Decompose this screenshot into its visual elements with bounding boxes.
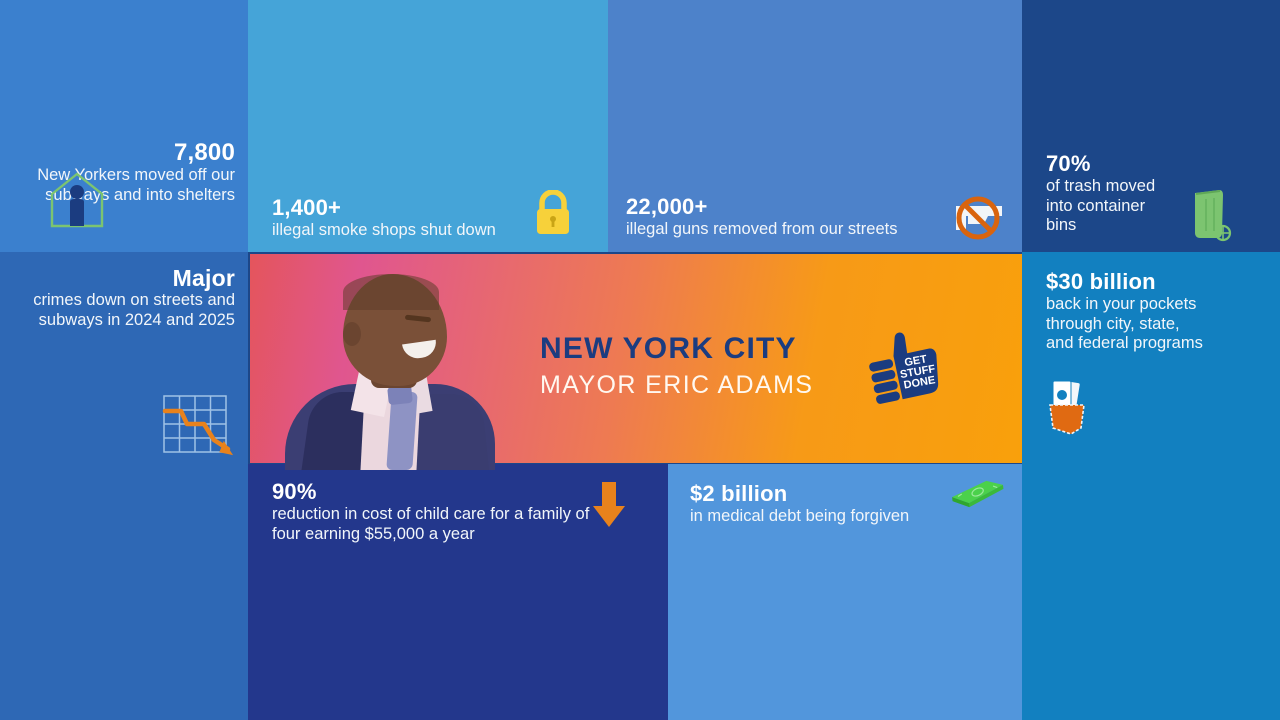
stat-trash-number: 70% xyxy=(1046,152,1176,175)
stat-child-care: 90% reduction in cost of child care for … xyxy=(272,480,602,544)
stat-crime-number: Major xyxy=(0,266,235,290)
stat-shelters: 7,800 New Yorkers moved off our subways … xyxy=(0,140,235,205)
stat-smoke-shops-number: 1,400+ xyxy=(272,196,572,219)
stat-guns: 22,000+ illegal guns removed from our st… xyxy=(626,195,966,240)
no-guns-icon xyxy=(948,192,1010,240)
stat-shelters-desc: New Yorkers moved off our subways and in… xyxy=(0,166,235,205)
stat-programs: $30 billion back in your pockets through… xyxy=(1046,270,1206,354)
stat-child-care-number: 90% xyxy=(272,480,602,503)
trash-bin-icon xyxy=(1186,185,1232,243)
person-in-house-icon xyxy=(46,168,108,230)
hero-title: NEW YORK CITY xyxy=(540,332,797,366)
panel-shelters-bg xyxy=(0,0,248,252)
padlock-icon xyxy=(532,190,574,236)
money-in-pocket-icon xyxy=(1044,378,1094,436)
bottom-fill-left xyxy=(248,546,668,720)
mayor-portrait xyxy=(285,266,495,467)
stat-medical-debt-desc: in medical debt being forgiven xyxy=(690,507,970,526)
stat-trash-desc: of trash moved into container bins xyxy=(1046,177,1176,235)
stat-crime: Major crimes down on streets and subways… xyxy=(0,266,235,330)
thumbs-up-icon: GET STUFF DONE xyxy=(866,328,944,406)
infographic-canvas: NEW YORK CITY MAYOR ERIC ADAMS GET STUFF… xyxy=(0,0,1280,720)
down-arrow-icon xyxy=(592,482,626,528)
stat-medical-debt-number: $2 billion xyxy=(690,482,970,505)
declining-chart-icon xyxy=(162,394,240,460)
stat-smoke-shops: 1,400+ illegal smoke shops shut down xyxy=(272,196,572,241)
stat-child-care-desc: reduction in cost of child care for a fa… xyxy=(272,505,602,544)
stat-guns-number: 22,000+ xyxy=(626,195,966,218)
stat-programs-desc: back in your pockets through city, state… xyxy=(1046,295,1206,353)
stat-medical-debt: $2 billion in medical debt being forgive… xyxy=(690,482,970,527)
hero-subtitle: MAYOR ERIC ADAMS xyxy=(540,371,813,400)
stat-shelters-number: 7,800 xyxy=(0,140,235,165)
bottom-fill-right xyxy=(668,546,1022,720)
cash-stack-icon xyxy=(948,478,1008,512)
stat-trash: 70% of trash moved into container bins xyxy=(1046,152,1176,236)
stat-programs-number: $30 billion xyxy=(1046,270,1206,293)
stat-crime-desc: crimes down on streets and subways in 20… xyxy=(0,291,235,330)
stat-smoke-shops-desc: illegal smoke shops shut down xyxy=(272,221,572,240)
stat-guns-desc: illegal guns removed from our streets xyxy=(626,220,966,239)
